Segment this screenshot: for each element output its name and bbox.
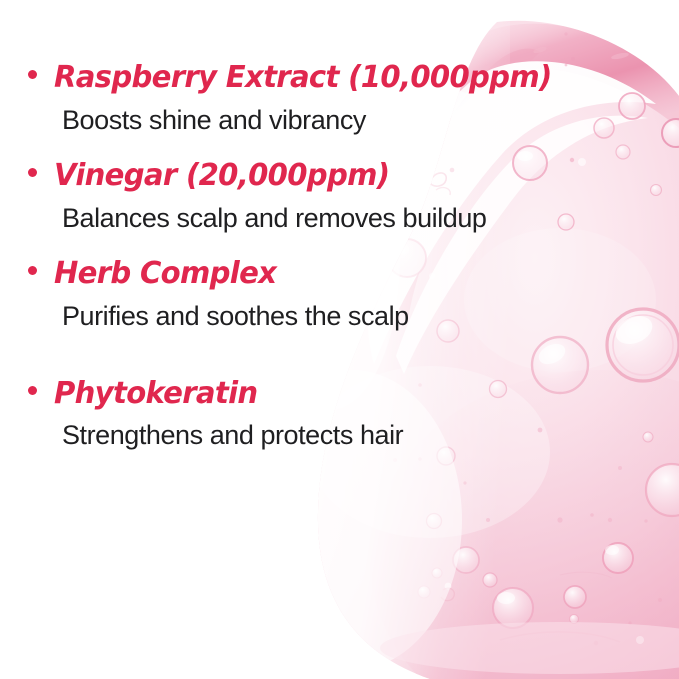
bullet-dot-icon (28, 70, 37, 79)
ingredient-infographic: Raspberry Extract (10,000ppm) Boosts shi… (0, 0, 679, 679)
list-item: Raspberry Extract (10,000ppm) Boosts shi… (28, 62, 679, 135)
ingredient-heading-row: Raspberry Extract (10,000ppm) (28, 62, 679, 94)
ingredient-benefit: Balances scalp and removes buildup (62, 204, 679, 234)
bullet-dot-icon (28, 386, 37, 395)
ingredient-name: Herb Complex (54, 258, 276, 290)
bullet-dot-icon (28, 266, 37, 275)
ingredient-name: Vinegar (20,000ppm) (54, 160, 389, 192)
ingredient-list: Raspberry Extract (10,000ppm) Boosts shi… (0, 0, 679, 679)
ingredient-heading-row: Herb Complex (28, 258, 679, 290)
ingredient-name: Raspberry Extract (10,000ppm) (54, 62, 552, 94)
bullet-dot-icon (28, 168, 37, 177)
ingredient-benefit: Purifies and soothes the scalp (62, 302, 679, 332)
list-item: Vinegar (20,000ppm) Balances scalp and r… (28, 160, 679, 233)
ingredient-benefit: Boosts shine and vibrancy (62, 106, 679, 136)
list-item: Herb Complex Purifies and soothes the sc… (28, 258, 679, 331)
ingredient-heading-row: Phytokeratin (28, 378, 679, 410)
ingredient-heading-row: Vinegar (20,000ppm) (28, 160, 679, 192)
list-item: Phytokeratin Strengthens and protects ha… (28, 378, 679, 451)
ingredient-benefit: Strengthens and protects hair (62, 421, 679, 451)
ingredient-name: Phytokeratin (54, 378, 257, 410)
